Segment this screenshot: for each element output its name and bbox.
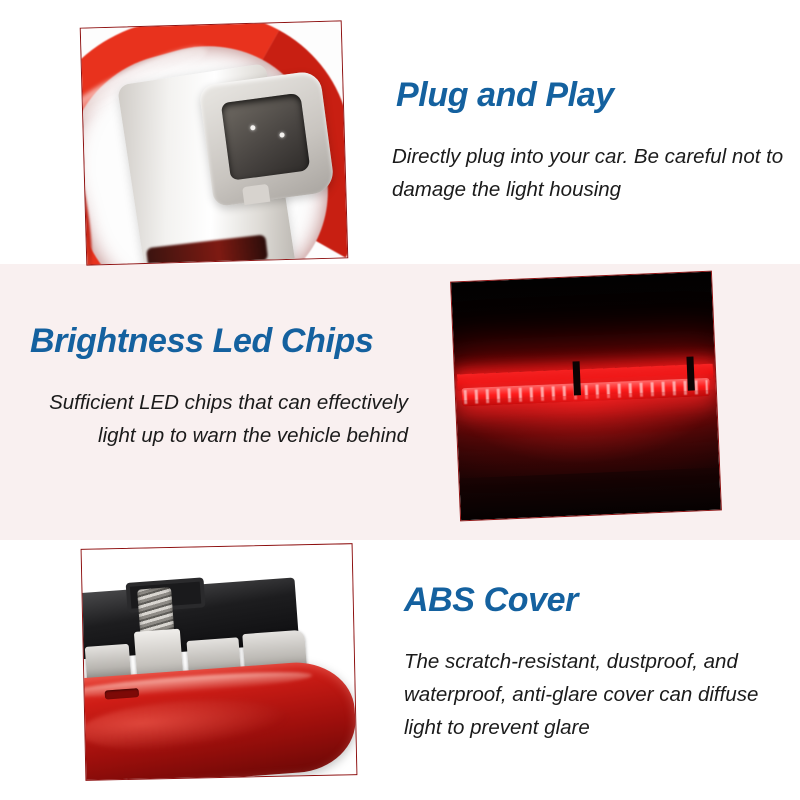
connector-pin-1 xyxy=(250,125,256,131)
led-photo-content xyxy=(451,272,721,521)
feature-heading-abs-cover: ABS Cover xyxy=(404,583,578,617)
led-strip-lit-photo xyxy=(450,271,722,522)
lens-inner-reflection xyxy=(82,693,291,756)
lens-slot xyxy=(105,688,140,699)
infographic-page: Plug and Play Directly plug into your ca… xyxy=(0,0,800,800)
feature-body-plug-and-play: Directly plug into your car. Be careful … xyxy=(392,140,784,206)
abs-cover-photo xyxy=(81,543,358,781)
feature-body-brightness-led-chips: Sufficient LED chips that can effectivel… xyxy=(20,386,408,452)
feature-body-abs-cover: The scratch-resistant, dustproof, and wa… xyxy=(404,645,790,745)
led-divider-2 xyxy=(686,356,694,390)
connector-pin-2 xyxy=(279,132,285,138)
abs-photo-content xyxy=(82,544,357,780)
connector-cavity xyxy=(221,93,311,181)
connector-photo-content xyxy=(81,21,347,264)
grey-connector-plug-shape xyxy=(198,70,335,207)
led-divider-1 xyxy=(573,361,581,395)
feature-heading-plug-and-play: Plug and Play xyxy=(396,78,614,112)
connector-notch xyxy=(242,184,270,205)
feature-heading-brightness-led-chips: Brightness Led Chips xyxy=(30,324,373,358)
connector-closeup-photo xyxy=(80,20,349,265)
led-lower-glow xyxy=(451,389,721,479)
red-abs-lens-cover xyxy=(82,658,357,779)
